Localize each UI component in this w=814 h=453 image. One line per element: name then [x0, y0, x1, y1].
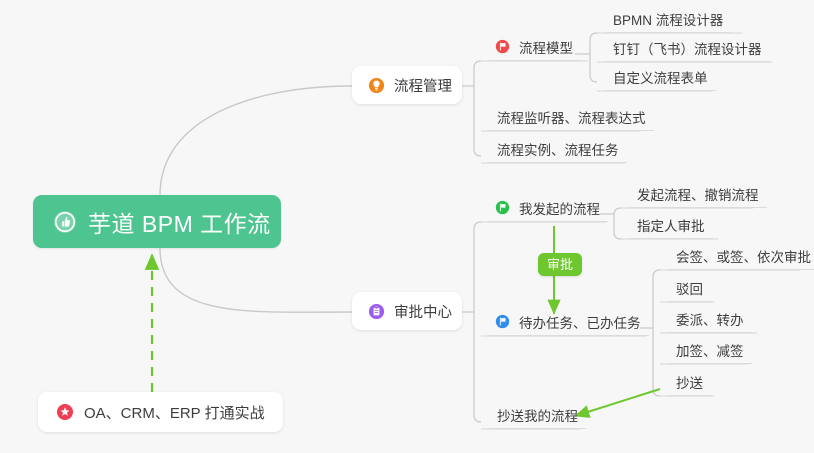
flag-red-icon: [495, 39, 510, 54]
node-start-cancel-process-label: 发起流程、撤销流程: [637, 184, 759, 204]
node-carbon-copy[interactable]: 抄送: [668, 368, 711, 396]
node-assignee-approval-label: 指定人审批: [637, 215, 705, 235]
node-todo-done-task[interactable]: 待办任务、已办任务: [489, 308, 649, 336]
node-my-started-process-label: 我发起的流程: [519, 198, 600, 218]
node-carbon-copy-label: 抄送: [676, 372, 703, 392]
node-dingtalk-feishu-designer-label: 钉钉（飞书）流程设计器: [613, 38, 762, 58]
node-bpmn-designer-label: BPMN 流程设计器: [613, 9, 723, 29]
star-icon: [56, 403, 74, 421]
node-custom-process-form[interactable]: 自定义流程表单: [605, 63, 716, 91]
trunk-my-started: [614, 208, 621, 239]
node-custom-process-form-label: 自定义流程表单: [613, 67, 708, 87]
bottom-note-label: OA、CRM、ERP 打通实战: [84, 402, 265, 423]
node-todo-done-task-label: 待办任务、已办任务: [519, 312, 641, 332]
trunk-process-management: [474, 61, 481, 156]
node-reject[interactable]: 驳回: [668, 274, 711, 302]
node-start-cancel-process[interactable]: 发起流程、撤销流程: [629, 180, 767, 208]
bottom-note-node[interactable]: OA、CRM、ERP 打通实战: [38, 392, 283, 432]
node-instance-task-label: 流程实例、流程任务: [497, 139, 619, 159]
node-my-started-process[interactable]: 我发起的流程: [489, 194, 608, 222]
branch-process-management-label: 流程管理: [394, 75, 452, 96]
link-root-to-approval-center: [160, 248, 352, 312]
node-process-model-label: 流程模型: [519, 37, 573, 57]
approval-flow-tag: 审批: [538, 253, 582, 276]
node-add-remove-sign[interactable]: 加签、减签: [668, 336, 752, 364]
trunk-todo-done: [653, 270, 660, 396]
node-process-model[interactable]: 流程模型: [489, 33, 581, 61]
flag-blue-icon: [495, 314, 510, 329]
node-counter-or-sequential-sign-label: 会签、或签、依次审批: [676, 246, 811, 266]
lightbulb-icon: [368, 77, 385, 94]
branch-approval-center-label: 审批中心: [394, 301, 452, 322]
arrow-carbon-copy-to-cc-process: [575, 389, 660, 416]
node-reject-label: 驳回: [676, 278, 703, 298]
node-listener-expression[interactable]: 流程监听器、流程表达式: [489, 103, 654, 131]
node-delegate-transfer-label: 委派、转办: [676, 309, 744, 329]
node-instance-task[interactable]: 流程实例、流程任务: [489, 135, 627, 163]
node-bpmn-designer[interactable]: BPMN 流程设计器: [605, 5, 731, 33]
thumbs-up-icon: [53, 210, 77, 234]
flag-green-icon: [495, 200, 510, 215]
link-root-to-process-management: [160, 86, 352, 195]
node-cc-to-me-process[interactable]: 抄送我的流程: [489, 401, 586, 429]
node-listener-expression-label: 流程监听器、流程表达式: [497, 107, 646, 127]
node-cc-to-me-process-label: 抄送我的流程: [497, 405, 578, 425]
node-assignee-approval[interactable]: 指定人审批: [629, 211, 713, 239]
mindmap-canvas: 芋道 BPM 工作流 OA、CRM、ERP 打通实战 流程管理: [0, 0, 814, 453]
branch-process-management[interactable]: 流程管理: [352, 66, 462, 104]
node-dingtalk-feishu-designer[interactable]: 钉钉（飞书）流程设计器: [605, 34, 770, 62]
root-label: 芋道 BPM 工作流: [88, 205, 271, 239]
clipboard-icon: [368, 303, 385, 320]
root-node[interactable]: 芋道 BPM 工作流: [33, 195, 281, 248]
trunk-process-model: [590, 33, 597, 82]
node-delegate-transfer[interactable]: 委派、转办: [668, 305, 752, 333]
node-counter-or-sequential-sign[interactable]: 会签、或签、依次审批: [668, 242, 814, 270]
branch-approval-center[interactable]: 审批中心: [352, 292, 462, 330]
node-add-remove-sign-label: 加签、减签: [676, 340, 744, 360]
trunk-approval-center: [474, 222, 481, 422]
